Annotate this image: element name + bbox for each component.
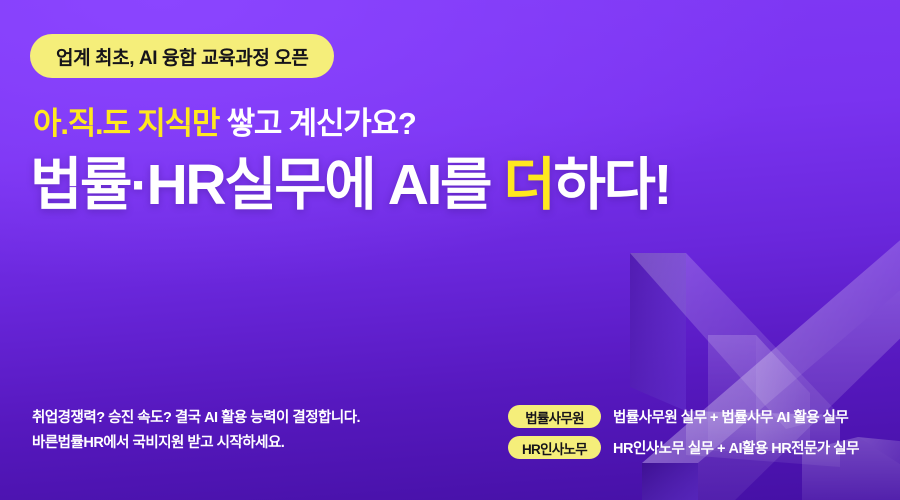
course-description: HR인사노무 실무 + AI활용 HR전문가 실무 xyxy=(613,437,859,458)
main-headline: 법률·HR실무에 AI를 더하다! xyxy=(30,139,670,221)
course-pill-label: 법률사무원 xyxy=(508,405,601,428)
course-row: HR인사노무 HR인사노무 실무 + AI활용 HR전문가 실무 xyxy=(508,436,859,459)
description-block: 취업경쟁력? 승진 속도? 결국 AI 활용 능력이 결정합니다. 바른법률HR… xyxy=(32,406,360,456)
promo-badge: 업계 최초, AI 융합 교육과정 오픈 xyxy=(30,34,334,78)
sub-headline-rest: 쌓고 계신가요? xyxy=(219,106,415,141)
description-line-2: 바른법률HR에서 국비지원 받고 시작하세요. xyxy=(32,431,360,456)
course-row: 법률사무원 법률사무원 실무 + 법률사무 AI 활용 실무 xyxy=(508,405,859,428)
main-headline-before: 법률·HR실무에 AI를 xyxy=(30,153,503,217)
promo-badge-label: 업계 최초, AI 융합 교육과정 오픈 xyxy=(56,43,308,70)
sub-headline-highlight: 아.직.도 지식만 xyxy=(33,106,219,141)
course-description: 법률사무원 실무 + 법률사무 AI 활용 실무 xyxy=(613,406,848,427)
main-headline-highlight: 더 xyxy=(503,153,553,217)
sub-headline: 아.직.도 지식만 쌓고 계신가요? xyxy=(33,98,416,143)
promo-banner: 업계 최초, AI 융합 교육과정 오픈 아.직.도 지식만 쌓고 계신가요? … xyxy=(0,0,900,500)
main-headline-after: 하다! xyxy=(553,153,670,217)
course-list: 법률사무원 법률사무원 실무 + 법률사무 AI 활용 실무 HR인사노무 HR… xyxy=(508,405,859,459)
course-pill-label: HR인사노무 xyxy=(508,436,601,459)
description-line-1: 취업경쟁력? 승진 속도? 결국 AI 활용 능력이 결정합니다. xyxy=(32,406,360,431)
